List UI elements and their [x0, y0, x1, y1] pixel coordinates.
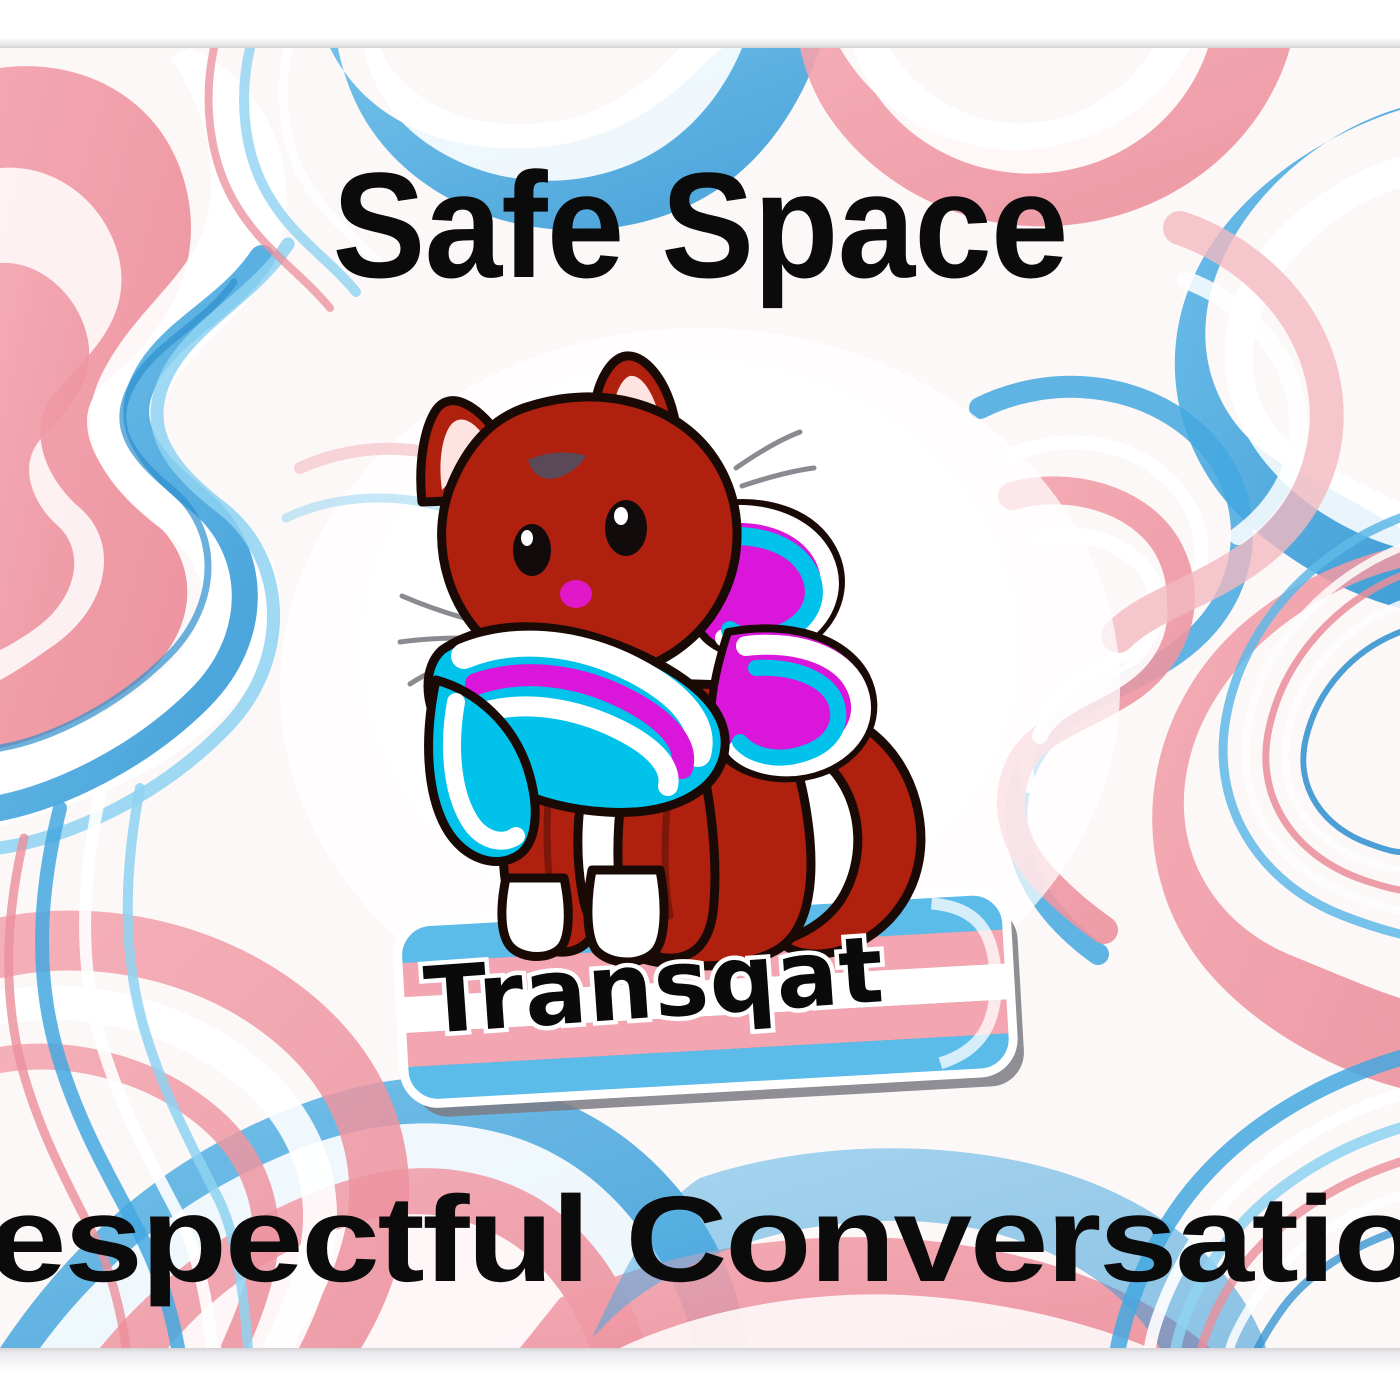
page-subtitle: Respectful Conversations [0, 1178, 1400, 1300]
frame-border-bottom [0, 1348, 1400, 1400]
cat-mascot-icon [400, 356, 921, 966]
page-title: Safe Space [49, 150, 1351, 300]
cover-art-canvas: Safe Space [0, 0, 1400, 1400]
frame-border-top [0, 0, 1400, 48]
